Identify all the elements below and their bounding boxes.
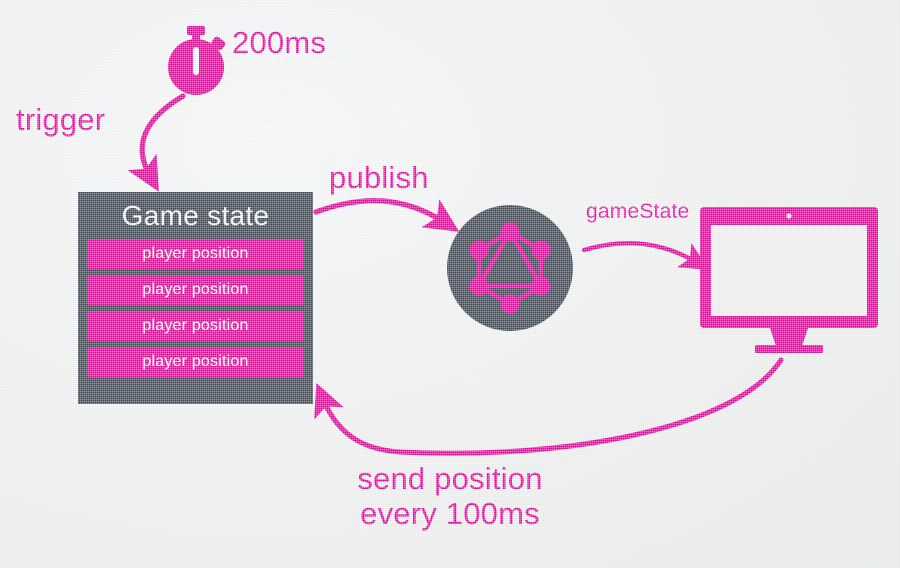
game-state-title: Game state [87,198,304,233]
edge-label-send-position-line2: every 100ms [0,497,900,532]
game-state-box: Game state player position player positi… [78,192,313,404]
diagram-canvas: Game state player position player positi… [0,0,900,568]
timer-label: 200ms [232,26,326,61]
player-position-row: player position [87,347,304,377]
edge-label-trigger: trigger [16,103,105,138]
graphql-node [447,205,573,331]
edge-label-publish: publish [329,161,429,196]
player-position-row: player position [87,239,304,269]
edge-label-send-position-line1: send position [357,461,542,496]
player-position-row: player position [87,311,304,341]
edge-label-send-position: send position every 100ms [0,462,900,531]
desktop-monitor-icon [698,203,880,353]
graphql-logo-icon [447,205,573,331]
player-position-row: player position [87,275,304,305]
edge-label-gamestate: gameState [586,200,689,224]
